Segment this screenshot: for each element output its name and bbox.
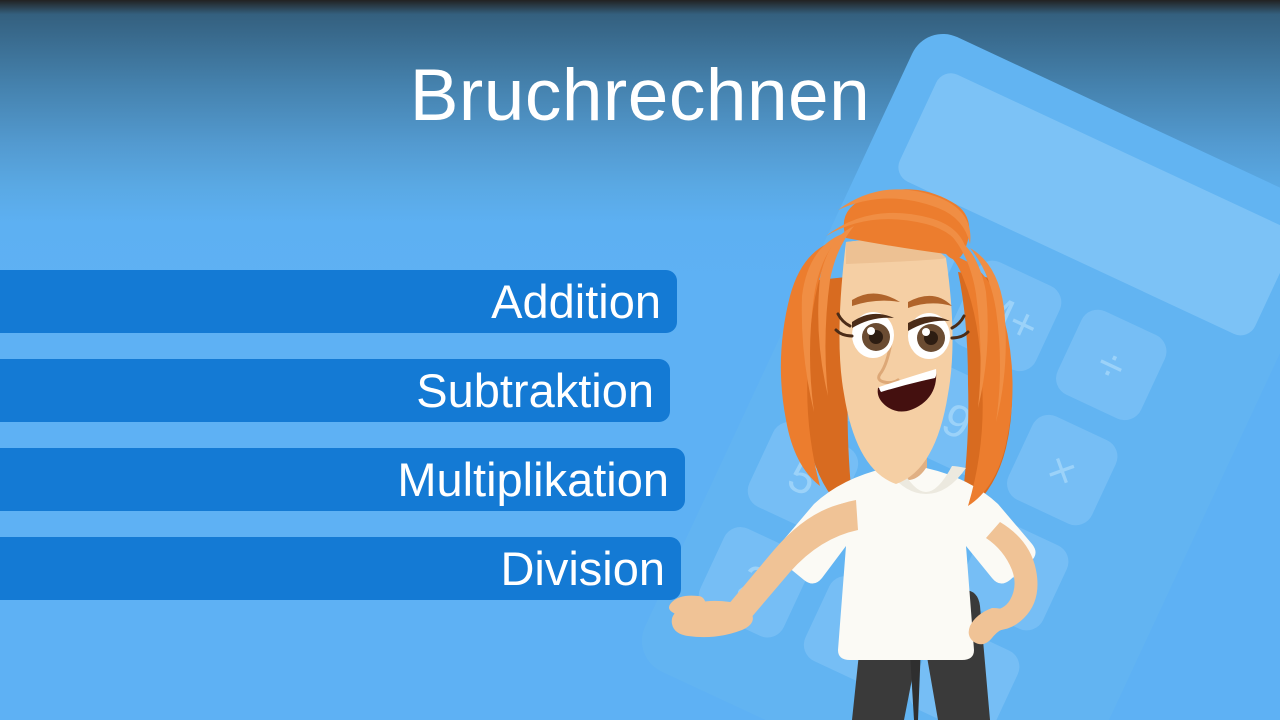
topic-bar-subtraktion[interactable]: Subtraktion [0, 359, 670, 422]
topic-bar-division[interactable]: Division [0, 537, 681, 600]
topic-label-subtraktion: Subtraktion [416, 367, 654, 414]
presenter-character [660, 150, 1180, 720]
topic-label-multiplikation: Multiplikation [397, 456, 669, 503]
topic-list: Addition Subtraktion Multiplikation Divi… [0, 270, 720, 626]
topic-bar-multiplikation[interactable]: Multiplikation [0, 448, 685, 511]
topic-label-division: Division [500, 545, 665, 592]
topic-label-addition: Addition [491, 278, 661, 325]
topic-bar-addition[interactable]: Addition [0, 270, 677, 333]
slide-canvas: MC M+ ÷ 8 9 × 5 6 − 2 3 + Bruchrechnen A… [0, 0, 1280, 720]
slide-title: Bruchrechnen [0, 54, 1280, 137]
